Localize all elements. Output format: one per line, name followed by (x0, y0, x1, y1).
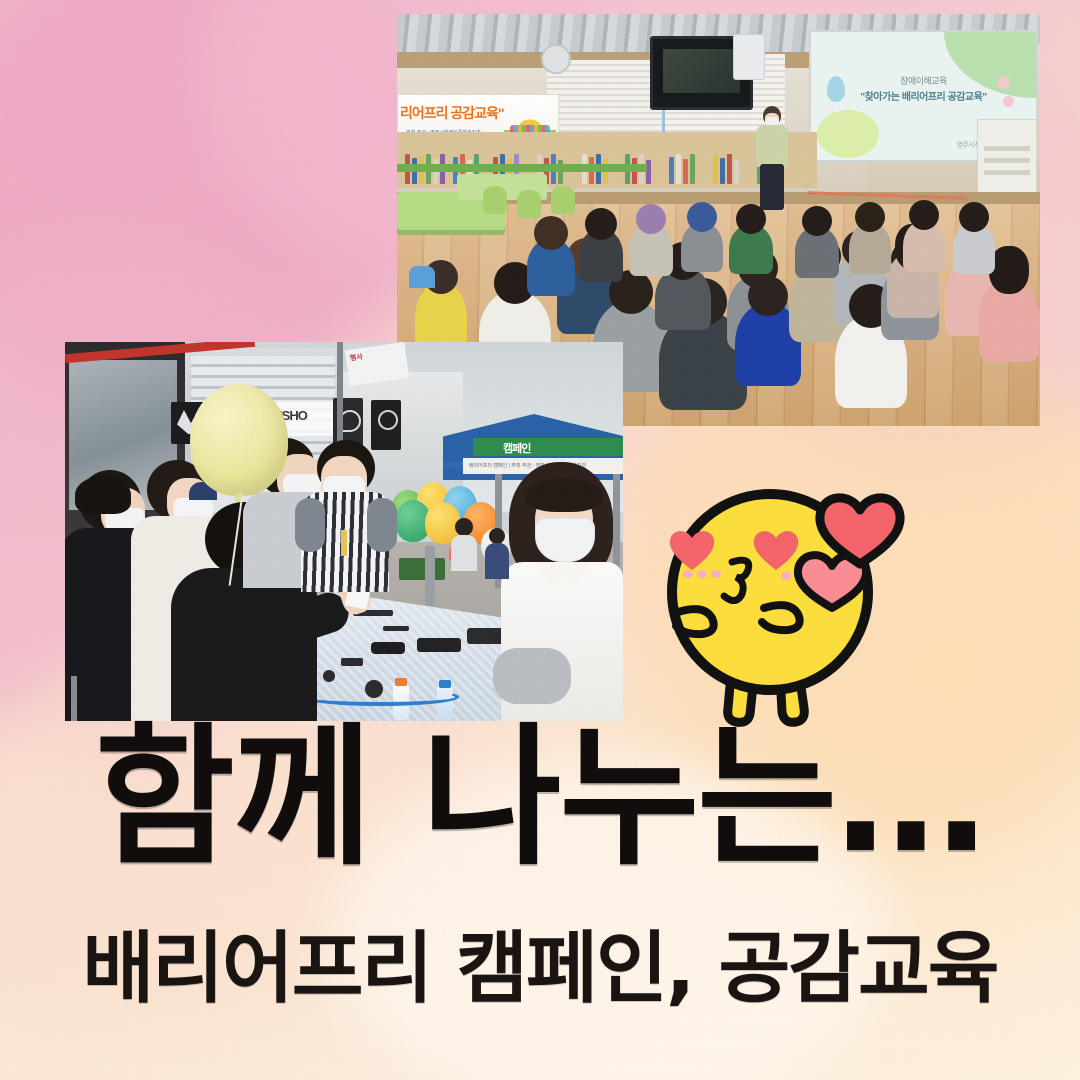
slide-line-1: 장애이해교육 (811, 74, 1036, 87)
lamp-stand (425, 546, 435, 606)
audience-person (849, 222, 891, 274)
classroom-chair (551, 186, 575, 214)
slide-line-2: "찾아가는 배리어프리 공감교육" (811, 88, 1036, 103)
green-crate (399, 558, 445, 580)
audience-person (795, 226, 839, 278)
green-rail (397, 164, 647, 172)
presenter (752, 106, 792, 210)
poster-headline: 함께 나누는… (0, 722, 1080, 874)
classroom-chair (483, 186, 507, 214)
balloon-yellow-large (190, 384, 288, 496)
table-item (383, 626, 409, 631)
audience-person (527, 238, 575, 296)
table-item (341, 658, 363, 666)
staff-striped-shirt (301, 440, 389, 592)
wall-fan (541, 44, 571, 74)
booth-sign-green: 캠페인 (473, 438, 623, 456)
table-item (371, 642, 405, 654)
slide-shape-lime (817, 110, 879, 158)
wall-banner-title: 리어프리 공감교육" (400, 103, 504, 123)
blue-hose (301, 688, 459, 706)
kissing-face-character (636, 476, 906, 740)
table-item (323, 670, 335, 682)
background-person (485, 528, 509, 578)
booth-staff-woman (495, 462, 623, 721)
audience-person (629, 224, 673, 276)
audience-person (579, 228, 623, 282)
air-conditioner (733, 34, 765, 80)
audience-person (681, 222, 723, 272)
photo-street: ESHO 행사 캠페인 배리어프리 캠페인 (65, 342, 623, 721)
booth-sign-green-text: 캠페인 (503, 440, 530, 456)
classroom-chair (517, 190, 541, 218)
audience-cap (409, 266, 435, 288)
blush-left (683, 570, 721, 578)
audience-person (953, 222, 995, 274)
smartphone (417, 638, 461, 652)
audience-person (729, 224, 773, 274)
background-person (451, 518, 477, 570)
poster-subline: 배리어프리 캠페인, 공감교육 (0, 930, 1080, 1008)
audience-person (903, 220, 945, 272)
poster-canvas: 리어프리 공감교육" 주최·주관 : 영주시장애인종합복지관 장애이해교육 "찾… (0, 0, 1080, 1080)
audience-person (979, 276, 1039, 362)
